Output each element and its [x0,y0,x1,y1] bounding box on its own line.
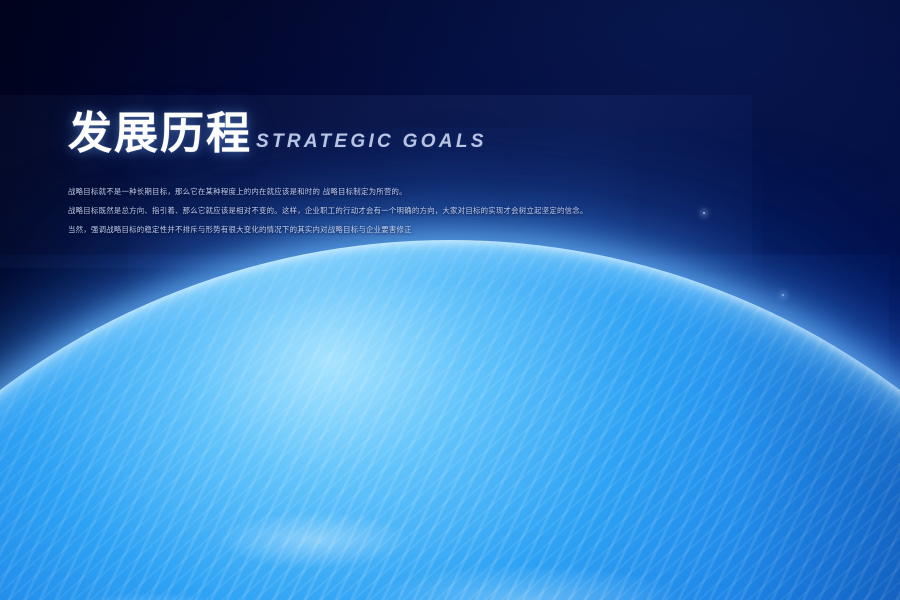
hero-banner: 发展历程 STRATEGIC GOALS 战略目标就不是一种长期目标，那么它在某… [0,0,900,600]
description-paragraphs: 战略目标就不是一种长期目标，那么它在某种程度上的内在就应该是和时的 战略目标制定… [68,186,758,236]
headline: 发展历程 STRATEGIC GOALS [68,112,487,156]
description-line: 战略目标就不是一种长期目标，那么它在某种程度上的内在就应该是和时的 战略目标制定… [68,186,758,198]
page-subtitle: STRATEGIC GOALS [256,131,487,156]
description-line: 当然，强调战略目标的稳定性并不排斥与形势有很大变化的情况下的其实内对战略目标与企… [68,224,758,236]
page-title: 发展历程 [68,112,252,156]
description-line: 战略目标既然是总方向、指引着、那么它就应该是相对不变的。这样，企业职工的行动才会… [68,205,758,217]
